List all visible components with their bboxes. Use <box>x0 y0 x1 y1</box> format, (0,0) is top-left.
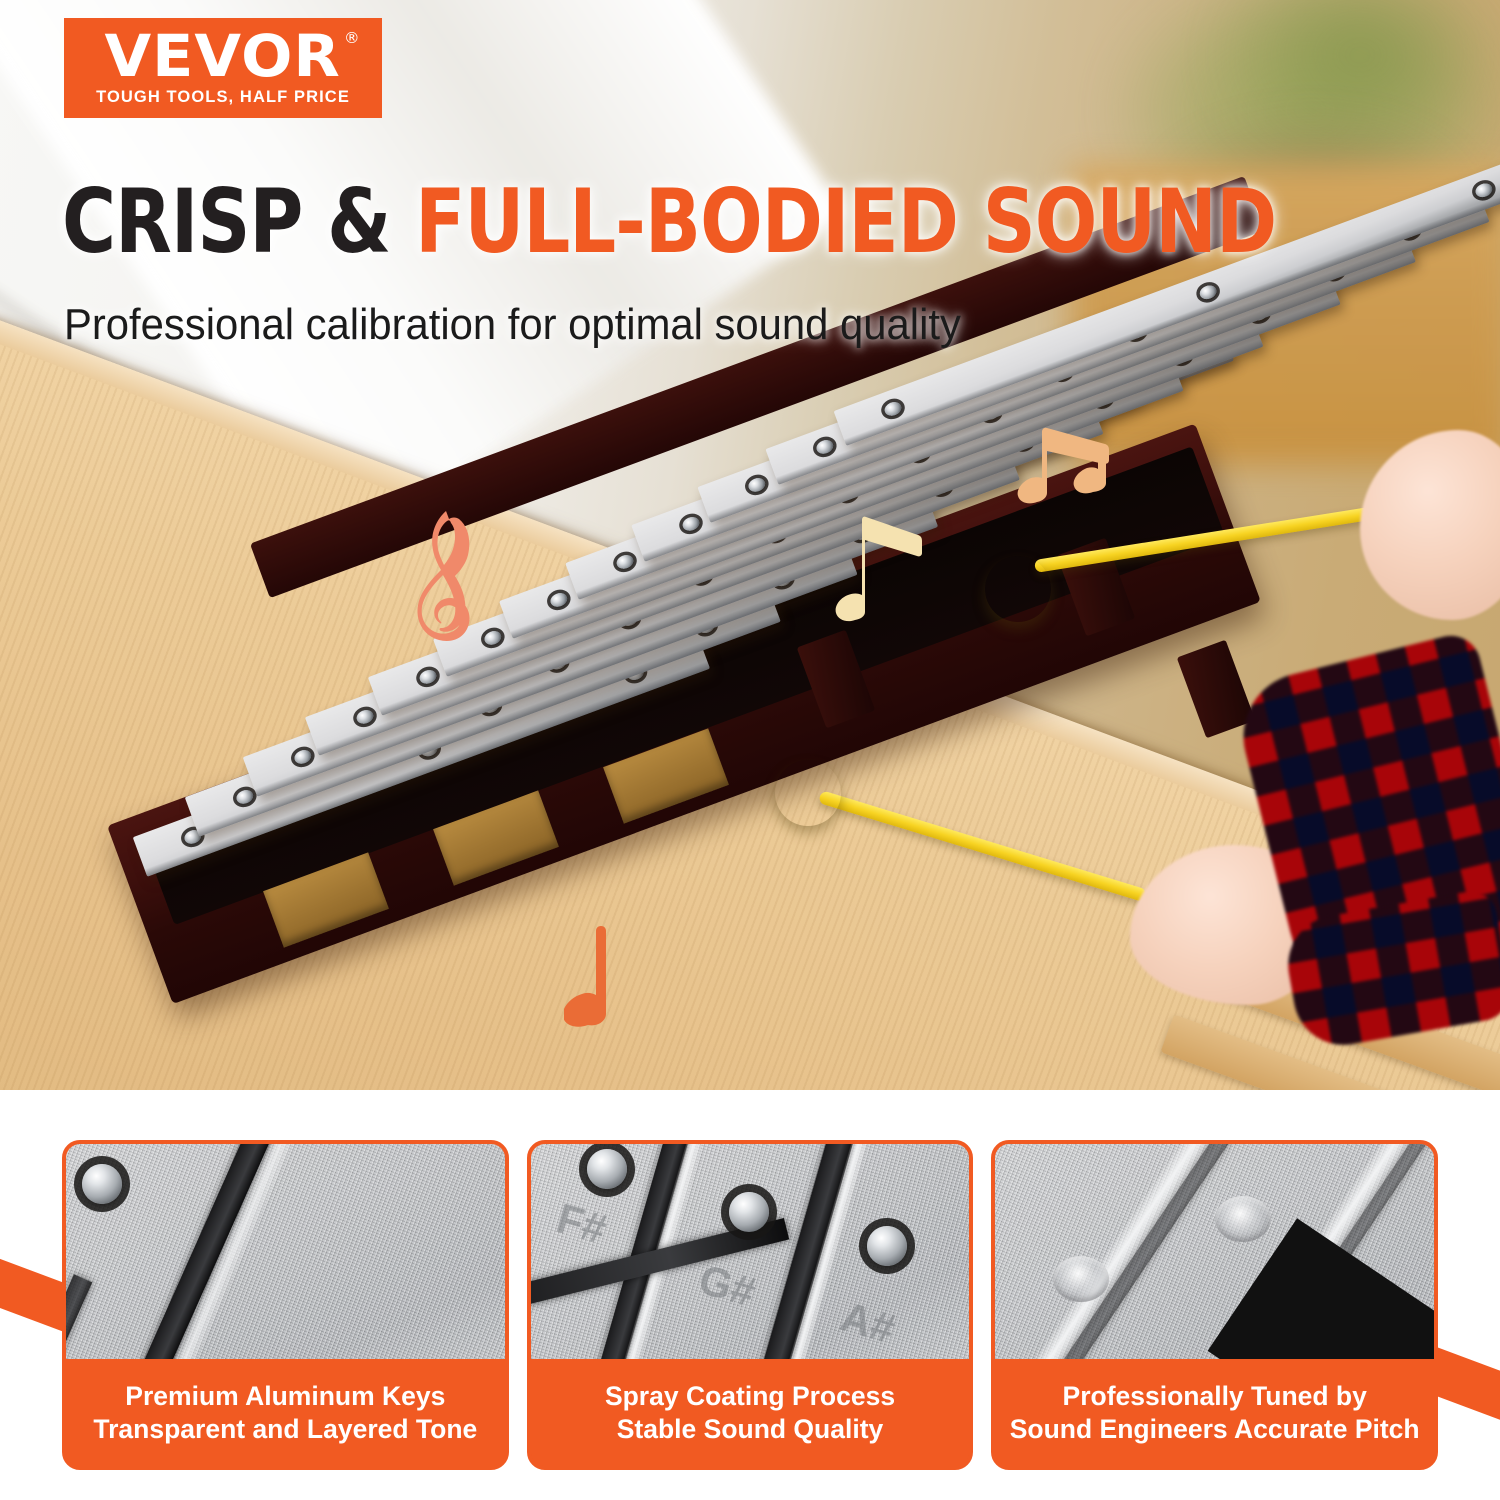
registered-trademark-icon: ® <box>344 31 361 45</box>
feature-card-photo <box>995 1144 1434 1359</box>
beamed-eighth-notes-cream-icon <box>825 500 945 630</box>
tuning-dimple-icon <box>1215 1196 1271 1242</box>
screw-icon <box>587 1149 627 1189</box>
tuning-dimple-icon <box>1053 1256 1109 1302</box>
feature-card-photo: F# G# A# <box>531 1144 970 1359</box>
brand-tagline: TOUGH TOOLS, HALF PRICE <box>96 88 350 107</box>
mallet-upper-head <box>985 556 1051 622</box>
quarter-note-orange-icon <box>564 925 624 1040</box>
headline-part-1: CRISP & <box>62 170 415 273</box>
feature-card-line-1: Premium Aluminum Keys <box>93 1380 477 1412</box>
feature-card-line-2: Stable Sound Quality <box>605 1413 895 1445</box>
brand-name: VEVOR® <box>105 29 341 84</box>
feature-card-line-1: Professionally Tuned by <box>1010 1380 1420 1412</box>
feature-cards: Premium Aluminum Keys Transparent and La… <box>0 1140 1500 1470</box>
headline-part-2: FULL-BODIED SOUND <box>415 170 1276 273</box>
feature-card-line-1: Spray Coating Process <box>605 1380 895 1412</box>
screw-icon <box>867 1226 907 1266</box>
treble-clef-icon <box>402 505 488 665</box>
vevor-logo[interactable]: VEVOR® TOUGH TOOLS, HALF PRICE <box>64 18 382 118</box>
frame-post <box>1177 640 1256 739</box>
feature-card-caption: Premium Aluminum Keys Transparent and La… <box>66 1359 505 1466</box>
page-title: CRISP & FULL-BODIED SOUND <box>62 178 1276 266</box>
feature-card-line-2: Sound Engineers Accurate Pitch <box>1010 1413 1420 1445</box>
feature-card-line-2: Transparent and Layered Tone <box>93 1413 477 1445</box>
mallet-lower-head <box>775 760 841 826</box>
feature-card-photo <box>66 1144 505 1359</box>
screw-icon <box>729 1192 769 1232</box>
feature-card[interactable]: Premium Aluminum Keys Transparent and La… <box>62 1140 509 1470</box>
xylophone <box>110 400 1320 1080</box>
feature-card-caption: Professionally Tuned by Sound Engineers … <box>995 1359 1434 1466</box>
feature-card[interactable]: F# G# A# Spray Coating Process Stable So… <box>527 1140 974 1470</box>
beamed-eighth-notes-peach-icon <box>1015 418 1123 514</box>
screw-icon <box>82 1164 122 1204</box>
feature-card-caption: Spray Coating Process Stable Sound Quali… <box>531 1359 970 1466</box>
feature-card[interactable]: Professionally Tuned by Sound Engineers … <box>991 1140 1438 1470</box>
page-subtitle: Professional calibration for optimal sou… <box>64 300 961 350</box>
